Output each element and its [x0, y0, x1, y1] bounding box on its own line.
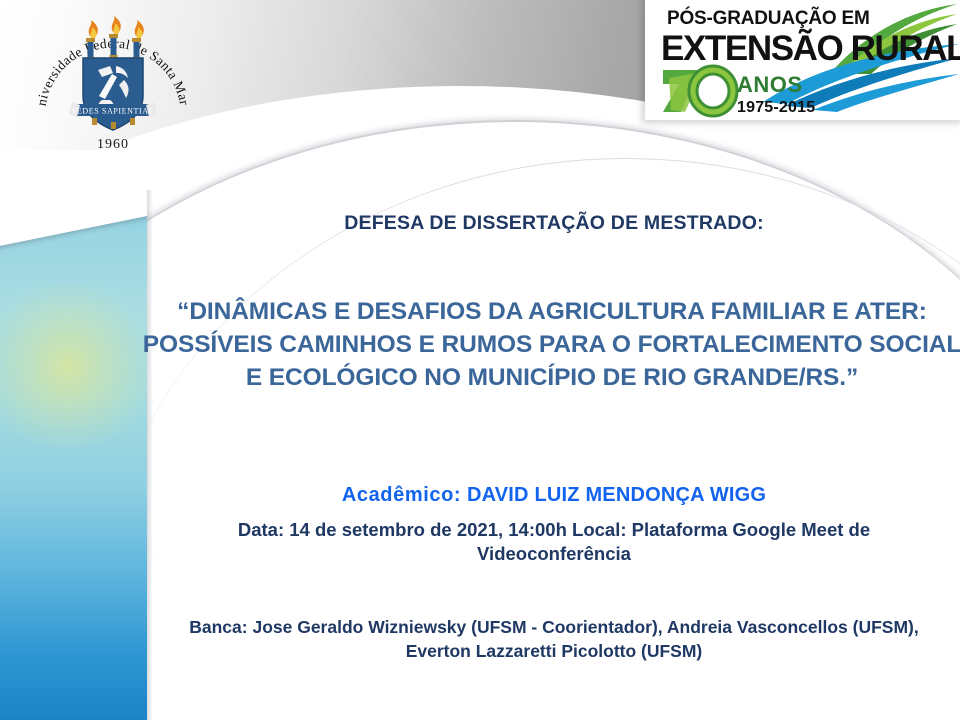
svg-text:EXTENSÃO RURAL: EXTENSÃO RURAL: [661, 29, 960, 68]
event-details: Data: 14 de setembro de 2021, 14:00h Loc…: [172, 518, 936, 567]
svg-text:SEDES SAPIENTIAE: SEDES SAPIENTIAE: [72, 107, 154, 116]
svg-text:ANOS: ANOS: [737, 72, 803, 97]
slide-content: DEFESA DE DISSERTAÇÃO DE MESTRADO: “DINÂ…: [148, 150, 960, 720]
svg-text:1975-2015: 1975-2015: [737, 99, 815, 116]
committee-members: Banca: Jose Geraldo Wizniewsky (UFSM - C…: [182, 616, 926, 664]
thesis-title: “DINÂMICAS E DESAFIOS DA AGRICULTURA FAM…: [132, 296, 960, 394]
ufsm-coat-of-arms-icon: Universidade Federal de Santa Maria: [28, 8, 198, 158]
svg-text:1960: 1960: [97, 137, 129, 152]
svg-text:PÓS-GRADUAÇÃO EM: PÓS-GRADUAÇÃO EM: [667, 7, 870, 29]
student-name: DAVID LUIZ MENDONÇA WIGG: [467, 484, 766, 506]
student-label: Acadêmico:: [342, 484, 461, 506]
program-logo-card: PÓS-GRADUAÇÃO EM EXTENSÃO RURAL ANOS 197…: [645, 0, 960, 120]
extensao-rural-logo-icon: PÓS-GRADUAÇÃO EM EXTENSÃO RURAL ANOS 197…: [645, 0, 960, 120]
left-gradient-fill: [0, 184, 147, 720]
defense-headline: DEFESA DE DISSERTAÇÃO DE MESTRADO:: [148, 212, 960, 235]
student-line: Acadêmico: DAVID LUIZ MENDONÇA WIGG: [148, 484, 960, 507]
left-gradient-panel: [0, 184, 147, 720]
ufsm-logo: Universidade Federal de Santa Maria: [28, 8, 198, 158]
presentation-slide: Universidade Federal de Santa Maria: [0, 0, 960, 720]
